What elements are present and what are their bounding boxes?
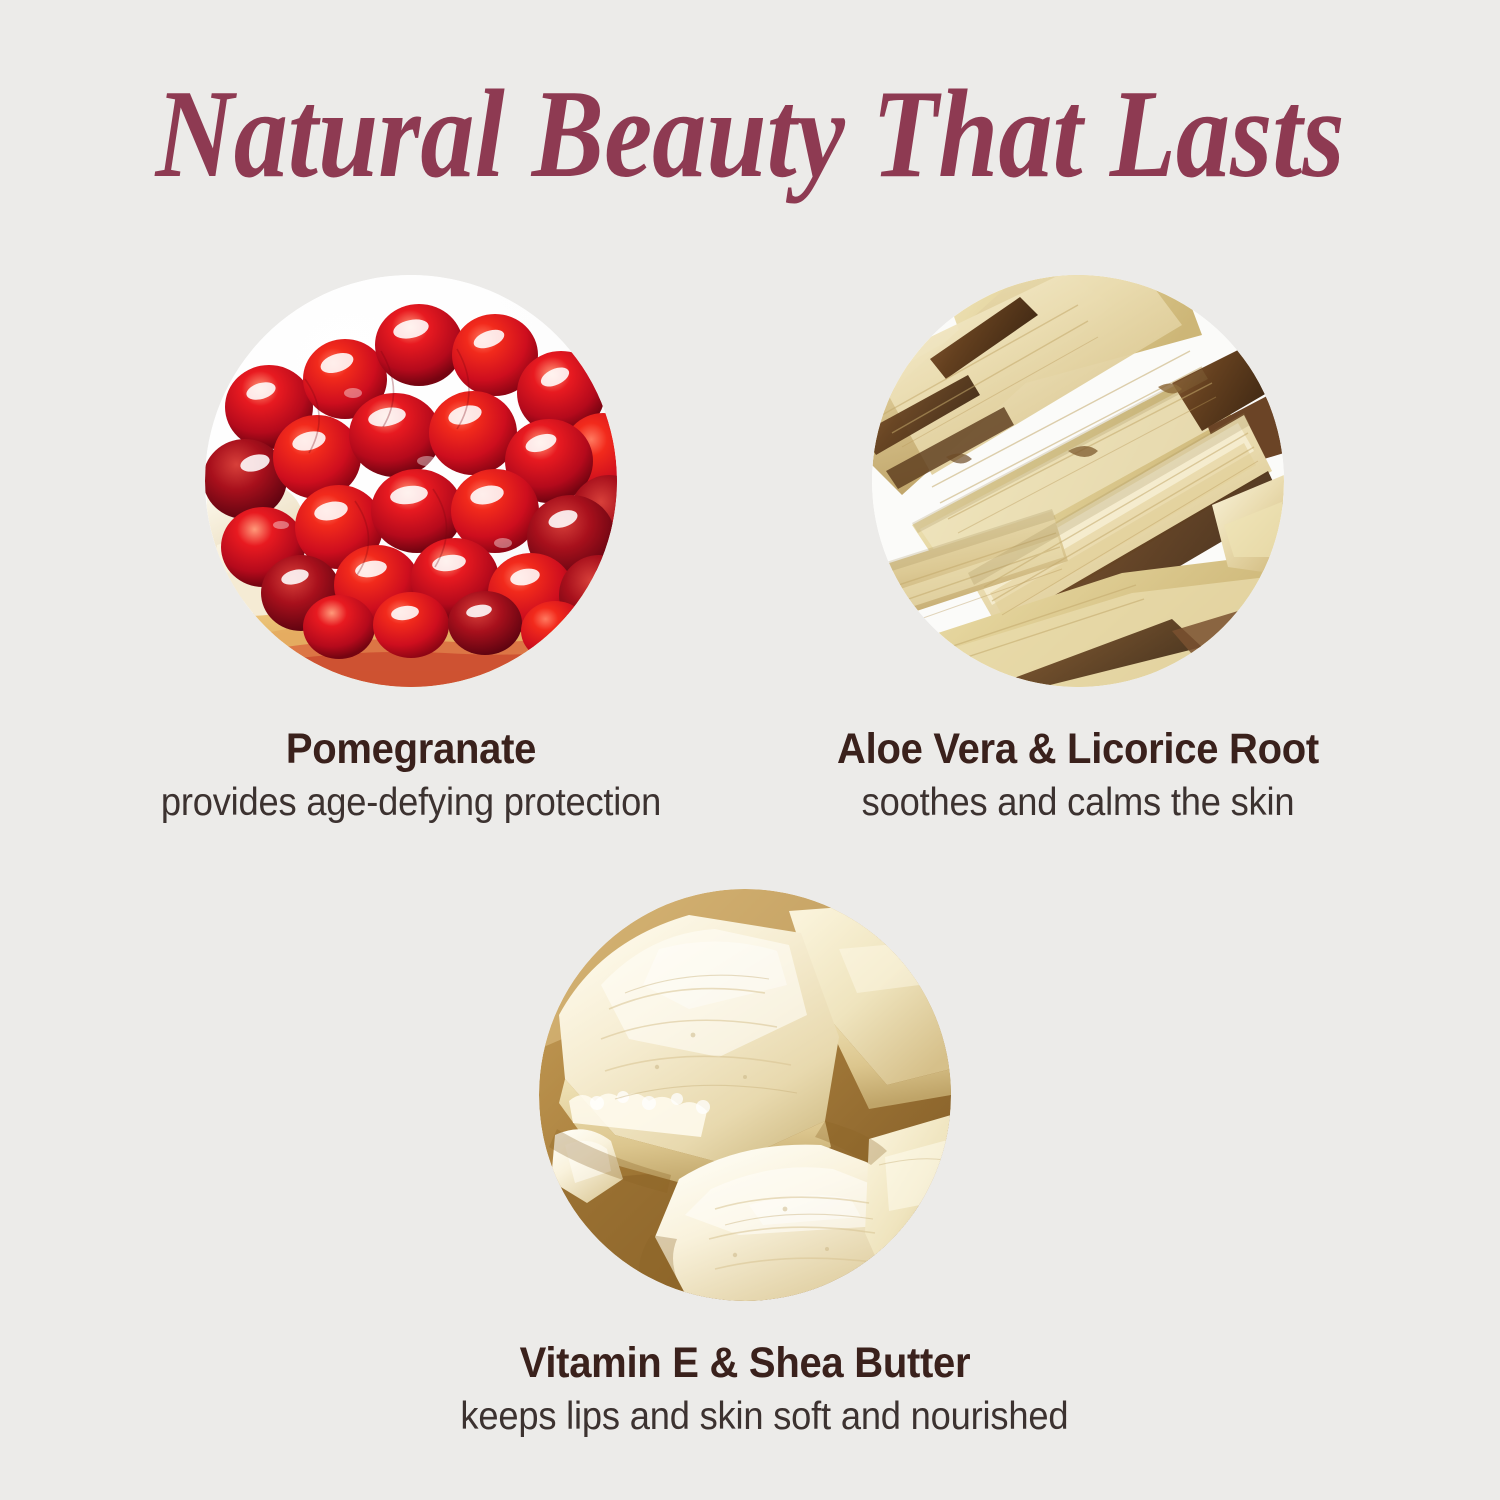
ingredient-name: Aloe Vera & Licorice Root [793,727,1362,772]
ingredient-description: provides age-defying protection [126,782,695,825]
ingredient-card-licorice-root: Aloe Vera & Licorice Root soothes and ca… [772,275,1384,825]
ingredient-description: keeps lips and skin soft and nourished [460,1396,1029,1439]
page-title: Natural Beauty That Lasts [105,72,1395,198]
pomegranate-photo [205,275,617,687]
ingredient-card-pomegranate: Pomegranate provides age-defying protect… [105,275,717,825]
infographic-page: Natural Beauty That Lasts [0,0,1500,1500]
ingredient-name: Pomegranate [126,727,695,772]
ingredient-card-shea-butter: Vitamin E & Shea Butter keeps lips and s… [439,889,1051,1439]
ingredient-name: Vitamin E & Shea Butter [460,1341,1029,1386]
ingredient-description: soothes and calms the skin [793,782,1362,825]
shea-butter-photo [539,889,951,1301]
licorice-root-photo [872,275,1284,687]
